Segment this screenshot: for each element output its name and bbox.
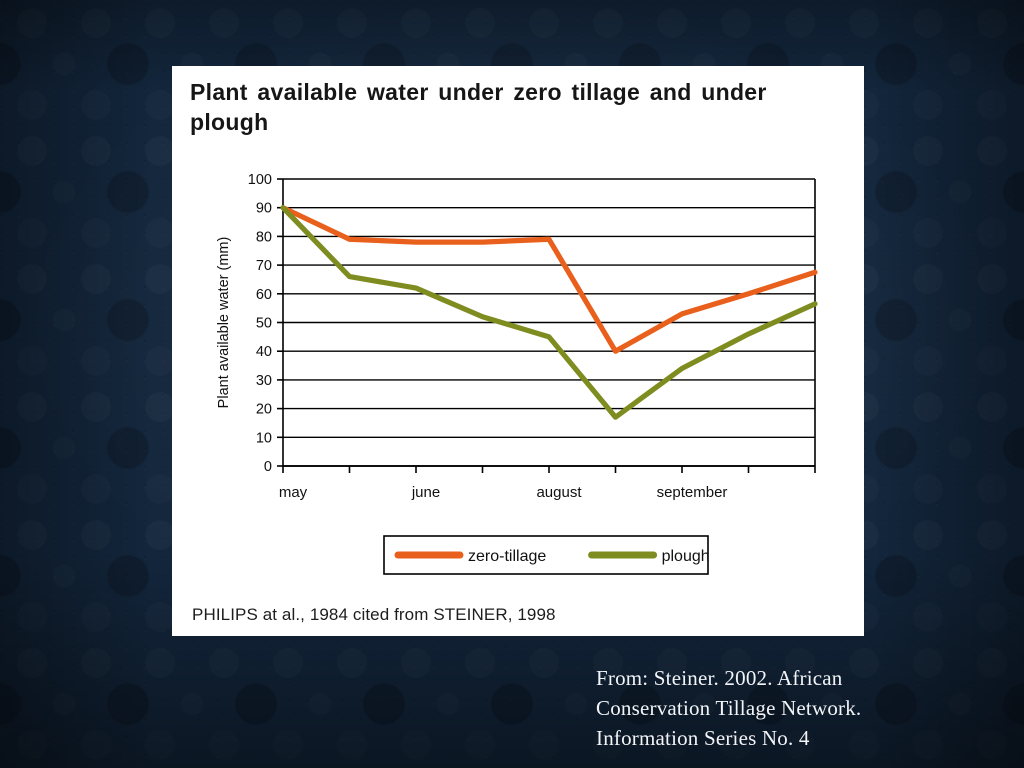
legend-label: zero-tillage bbox=[468, 548, 546, 565]
y-tick-label: 90 bbox=[256, 201, 272, 217]
x-tick-label: may bbox=[279, 484, 308, 501]
y-tick-label: 70 bbox=[256, 258, 272, 274]
y-tick-label: 40 bbox=[256, 344, 272, 360]
y-tick-label: 50 bbox=[256, 316, 272, 332]
attribution-line-1: From: Steiner. 2002. African bbox=[596, 664, 996, 694]
figure-panel: Plant available water under zero tillage… bbox=[172, 66, 864, 636]
y-tick-label: 30 bbox=[256, 373, 272, 389]
y-tick-label: 20 bbox=[256, 402, 272, 418]
line-chart: 1009080706050403020100mayjuneaugustsepte… bbox=[172, 66, 864, 636]
y-tick-label: 0 bbox=[264, 459, 272, 475]
x-tick-label: august bbox=[536, 484, 582, 501]
y-tick-label: 10 bbox=[256, 430, 272, 446]
x-tick-label: september bbox=[657, 484, 728, 501]
chart-svg: 1009080706050403020100mayjuneaugustsepte… bbox=[172, 66, 864, 636]
y-tick-label: 80 bbox=[256, 229, 272, 245]
slide-canvas: Plant available water under zero tillage… bbox=[0, 0, 1024, 768]
attribution-line-3: Information Series No. 4 bbox=[596, 724, 996, 754]
x-tick-label: june bbox=[411, 484, 440, 501]
y-axis-title: Plant available water (mm) bbox=[216, 237, 232, 409]
attribution-line-2: Conservation Tillage Network. bbox=[596, 694, 996, 724]
y-tick-label: 60 bbox=[256, 287, 272, 303]
figure-caption: PHILIPS at al., 1984 cited from STEINER,… bbox=[192, 605, 556, 625]
attribution-text: From: Steiner. 2002. African Conservatio… bbox=[596, 664, 996, 753]
legend-label: plough bbox=[662, 548, 710, 565]
y-tick-label: 100 bbox=[248, 172, 272, 188]
